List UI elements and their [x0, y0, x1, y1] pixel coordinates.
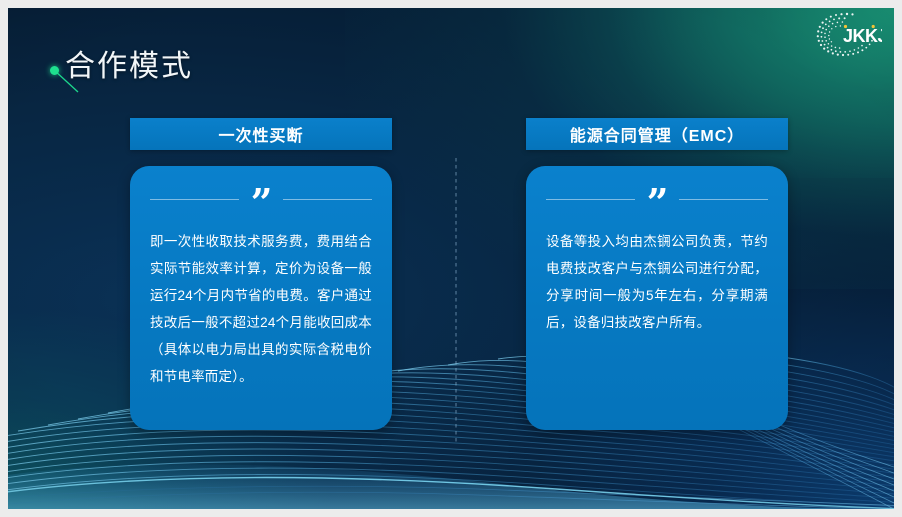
- banner-left-label: 一次性买断: [218, 122, 303, 146]
- title-accent-dot: [50, 66, 59, 75]
- jkkj-logo: JKKJ: [810, 10, 882, 60]
- banner-right: 能源合同管理（EMC）: [526, 118, 788, 150]
- page-title: 合作模式: [65, 41, 193, 85]
- quote-rule-right: [679, 199, 768, 200]
- card-left-body: 即一次性收取技术服务费，费用结合实际节能效率计算，定价为设备一般运行24个月内节…: [150, 228, 372, 390]
- quote-divider-right: ”: [546, 182, 768, 216]
- quote-divider-left: ”: [150, 182, 372, 216]
- slide-canvas: JKKJ 合作模式: [8, 8, 894, 509]
- card-right-body: 设备等投入均由杰锎公司负责，节约电费技改客户与杰锎公司进行分配，分享时间一般为5…: [546, 228, 768, 336]
- column-divider: [455, 158, 457, 443]
- quote-rule-right: [283, 199, 372, 200]
- card-left: ” 即一次性收取技术服务费，费用结合实际节能效率计算，定价为设备一般运行24个月…: [130, 166, 392, 430]
- quote-icon: ”: [251, 184, 272, 222]
- card-right: ” 设备等投入均由杰锎公司负责，节约电费技改客户与杰锎公司进行分配，分享时间一般…: [526, 166, 788, 430]
- banner-left: 一次性买断: [130, 118, 392, 150]
- quote-rule-left: [546, 199, 635, 200]
- page-title-block: 合作模式: [46, 44, 376, 92]
- quote-rule-left: [150, 199, 239, 200]
- quote-icon: ”: [647, 184, 668, 222]
- banner-right-label: 能源合同管理（EMC）: [570, 122, 745, 146]
- svg-text:JKKJ: JKKJ: [843, 26, 882, 46]
